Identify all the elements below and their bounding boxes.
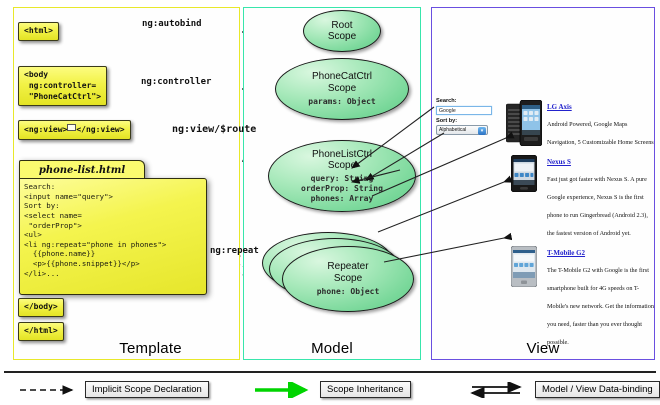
phone-name-link[interactable]: T-Mobile G2 <box>547 249 655 257</box>
scope-phonelistctrl: PhoneListCtrl Scope query: String orderP… <box>268 140 416 212</box>
green-arrow-icon <box>253 382 315 398</box>
phone-device-bar-silver-icon <box>511 246 537 287</box>
tag-html-open: <html> <box>18 22 59 41</box>
scope-phonelistctrl-props: query: String orderProp: String phones: … <box>301 174 383 203</box>
phone-name-link[interactable]: LG Axis <box>547 103 655 111</box>
edge-label-ng-view-route: ng:view/$route <box>172 124 256 135</box>
tag-ngview-open: <ng:view> <box>24 125 67 134</box>
search-label: Search: <box>436 98 492 105</box>
scope-phonecatctrl-title: PhoneCatCtrl Scope <box>312 71 372 93</box>
legend-divider <box>4 371 656 373</box>
scope-phonecatctrl-title-l2: Scope <box>328 83 356 94</box>
legend-label-implicit-scope: Implicit Scope Declaration <box>85 381 209 398</box>
scope-phonecatctrl-props: params: Object <box>308 97 375 107</box>
edge-label-ng-repeat: ng:repeat <box>210 246 259 256</box>
scope-repeater-props: phone: Object <box>317 287 380 297</box>
legend-item-implicit-scope: Implicit Scope Declaration <box>18 381 209 398</box>
phone-snippet: The T-Mobile G2 with Google is the first… <box>547 267 654 346</box>
tag-body-open: <body ng:controller= "PhoneCatCtrl"> <box>18 66 107 106</box>
tag-html-close: </html> <box>18 322 64 341</box>
tag-body-close: </body> <box>18 298 64 317</box>
tag-ngview-close: </ng:view> <box>76 125 124 134</box>
legend-item-data-binding: Model / View Data-binding <box>468 381 660 398</box>
scope-repeater-title: Repeater Scope <box>327 261 368 283</box>
phone-text: T-Mobile G2 The T-Mobile G2 with Google … <box>543 246 655 349</box>
edge-label-ng-autobind: ng:autobind <box>142 19 202 29</box>
scope-root: Root Scope <box>303 10 381 52</box>
note-filename: phone-list.html <box>39 165 125 176</box>
legend-item-scope-inheritance: Scope Inheritance <box>253 381 411 398</box>
sort-label: Sort by: <box>436 118 492 125</box>
legend-label-data-binding: Model / View Data-binding <box>535 381 660 398</box>
scope-phonelistctrl-title-l2: Scope <box>328 160 356 171</box>
note-tab: phone-list.html <box>19 160 145 179</box>
column-label-template: Template <box>14 340 239 357</box>
scope-repeater: Repeater Scope phone: Object <box>282 246 414 312</box>
phone-text: LG Axis Android Powered, Google Maps Nav… <box>543 100 655 149</box>
scope-repeater-title-l1: Repeater <box>327 261 368 272</box>
sort-select-value: Alphabetical <box>439 127 466 133</box>
dashed-arrow-icon <box>18 382 80 398</box>
phone-device-bar-black-icon <box>511 155 537 192</box>
phone-thumbnail <box>505 155 543 240</box>
note-code: Search: <input name="query"> Sort by: <s… <box>24 182 202 278</box>
scope-repeater-title-l2: Scope <box>334 273 362 284</box>
phone-name-link[interactable]: Nexus S <box>547 158 655 166</box>
list-item[interactable]: LG Axis Android Powered, Google Maps Nav… <box>505 100 655 149</box>
view-search-form: Search: Google Sort by: Alphabetical ▾ <box>436 98 492 135</box>
phone-thumbnail <box>505 246 543 349</box>
scope-phonecatctrl: PhoneCatCtrl Scope params: Object <box>275 58 409 120</box>
phone-snippet: Android Powered, Google Maps Navigation,… <box>547 121 654 146</box>
tag-ngview: <ng:view></ng:view> <box>18 120 131 140</box>
diagram-canvas: Template Model View <html> <body ng:cont… <box>0 0 660 405</box>
note-phone-list-html: phone-list.html Search: <input name="que… <box>19 160 207 295</box>
scope-phonelistctrl-title: PhoneListCtrl Scope <box>312 149 372 171</box>
note-body: Search: <input name="query"> Sort by: <s… <box>19 178 207 295</box>
phone-thumbnail <box>505 100 543 149</box>
search-input[interactable]: Google <box>436 106 492 115</box>
scope-root-title: Root Scope <box>328 20 356 42</box>
scope-phonelistctrl-title-l1: PhoneListCtrl <box>312 149 372 160</box>
scope-phonecatctrl-title-l1: PhoneCatCtrl <box>312 71 372 82</box>
edge-label-ng-controller: ng:controller <box>141 77 211 87</box>
list-item[interactable]: Nexus S Fast just got faster with Nexus … <box>505 155 655 240</box>
legend-label-scope-inheritance: Scope Inheritance <box>320 381 411 398</box>
scope-root-title-l2: Scope <box>328 31 356 42</box>
scope-root-title-l1: Root <box>331 20 352 31</box>
chevron-down-icon: ▾ <box>478 127 486 135</box>
view-phone-list: LG Axis Android Powered, Google Maps Nav… <box>505 100 655 355</box>
phone-snippet: Fast just got faster with Nexus S. A pur… <box>547 176 648 237</box>
ngview-slot-icon <box>67 124 76 131</box>
double-arrow-icon <box>468 382 530 398</box>
sort-select[interactable]: Alphabetical ▾ <box>436 125 488 135</box>
phone-text: Nexus S Fast just got faster with Nexus … <box>543 155 655 240</box>
column-label-model: Model <box>244 340 420 357</box>
phone-device-slider-icon <box>506 100 542 146</box>
scope-repeater-stack: Repeater Scope phone: Object <box>262 232 422 316</box>
list-item[interactable]: T-Mobile G2 The T-Mobile G2 with Google … <box>505 246 655 349</box>
